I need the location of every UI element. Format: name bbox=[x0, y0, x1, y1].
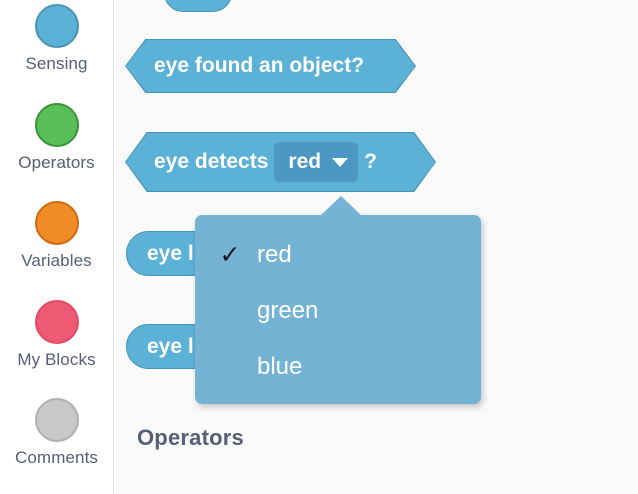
block-eye-detects-color[interactable]: eye detects red ? bbox=[126, 133, 435, 191]
category-dot-icon bbox=[35, 103, 79, 147]
dropdown-option-green[interactable]: green bbox=[195, 283, 481, 339]
block-label: eye found an object? bbox=[126, 54, 364, 78]
dropdown-option-label: blue bbox=[195, 353, 302, 381]
block-palette-screen: Sensing Operators Variables My Blocks Co… bbox=[0, 0, 638, 494]
dropdown-option-red[interactable]: ✓ red bbox=[195, 227, 481, 283]
checkmark-icon: ✓ bbox=[217, 243, 243, 268]
category-dot-icon bbox=[35, 398, 79, 442]
block-label: eye l bbox=[147, 335, 194, 359]
sidebar-item-label: Variables bbox=[0, 251, 113, 271]
block-label-before: eye detects bbox=[126, 150, 268, 174]
category-sidebar: Sensing Operators Variables My Blocks Co… bbox=[0, 0, 114, 494]
color-dropdown-field[interactable]: red bbox=[274, 142, 358, 182]
sidebar-item-label: Operators bbox=[0, 153, 113, 173]
chevron-down-icon bbox=[332, 158, 348, 167]
sidebar-item-my-blocks[interactable]: My Blocks bbox=[0, 300, 113, 370]
dropdown-option-label: red bbox=[195, 241, 292, 269]
block-eye-found-an-object[interactable]: eye found an object? bbox=[126, 40, 415, 92]
sidebar-item-comments[interactable]: Comments bbox=[0, 398, 113, 468]
sidebar-item-label: Comments bbox=[0, 448, 113, 468]
category-dot-icon bbox=[35, 201, 79, 245]
sidebar-item-sensing[interactable]: Sensing bbox=[0, 4, 113, 74]
dropdown-option-label: green bbox=[195, 297, 318, 325]
category-dot-icon bbox=[35, 300, 79, 344]
block-label: eye l bbox=[147, 242, 194, 266]
sidebar-item-label: My Blocks bbox=[0, 350, 113, 370]
color-dropdown-menu[interactable]: ✓ red green blue bbox=[195, 215, 481, 404]
color-dropdown-value: red bbox=[288, 150, 321, 174]
partial-block-top[interactable] bbox=[164, 0, 232, 12]
dropdown-option-blue[interactable]: blue bbox=[195, 339, 481, 395]
palette-section-heading: Operators bbox=[137, 425, 244, 451]
category-dot-icon bbox=[35, 4, 79, 48]
sidebar-item-operators[interactable]: Operators bbox=[0, 103, 113, 173]
sidebar-item-variables[interactable]: Variables bbox=[0, 201, 113, 271]
block-label-after: ? bbox=[364, 150, 377, 174]
dropdown-pointer-icon bbox=[320, 196, 362, 216]
sidebar-item-label: Sensing bbox=[0, 54, 113, 74]
